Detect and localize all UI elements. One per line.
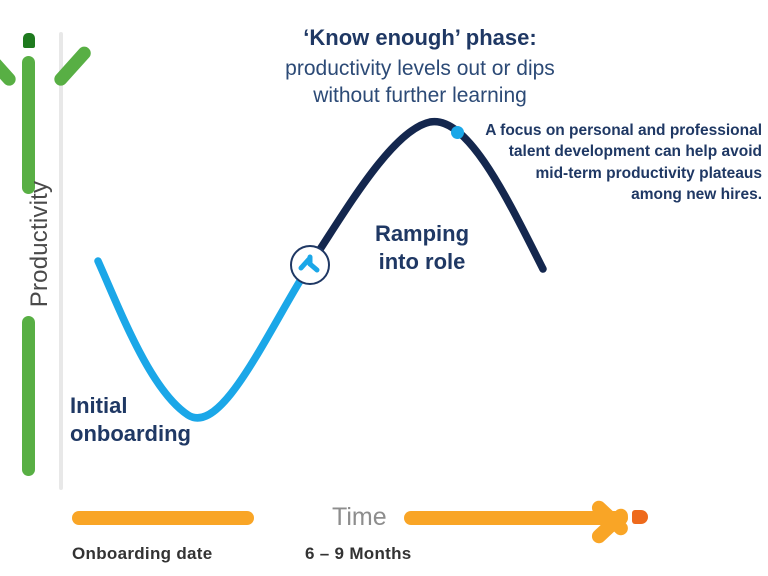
ramping-into-role-label-line-2: into role — [362, 248, 482, 276]
headline-sub: productivity levels out or dips without … — [210, 55, 630, 110]
cursor-arrow-icon — [297, 252, 323, 278]
plateau-callout-line-2: talent development can help avoid — [470, 141, 762, 162]
x-axis-title: Time — [332, 503, 387, 532]
dot-marker-icon — [451, 126, 464, 139]
plateau-callout-line-3: mid-term productivity plateaus — [470, 163, 762, 184]
plateau-callout-line-1: A focus on personal and professional — [470, 120, 762, 141]
plateau-callout: A focus on personal and professional tal… — [470, 120, 762, 206]
ramping-into-role-label-line-1: Ramping — [362, 220, 482, 248]
infographic-canvas: Productivity A focus on personal and pro… — [0, 0, 768, 576]
cursor-marker[interactable] — [290, 245, 330, 285]
headline-lead-bold: ‘Know enough’ phase — [303, 25, 529, 50]
headline: ‘Know enough’ phase: productivity levels… — [210, 24, 630, 109]
initial-onboarding-label-line-2: onboarding — [70, 420, 191, 448]
x-arrow-shaft-left — [72, 511, 254, 525]
headline-lead-colon: : — [529, 25, 536, 50]
plateau-callout-line-4: among new hires. — [470, 184, 762, 205]
x-tick-onboarding-date: Onboarding date — [72, 544, 213, 564]
headline-sub-line-1: productivity levels out or dips — [285, 57, 555, 80]
initial-onboarding-label-line-1: Initial — [70, 392, 191, 420]
x-arrow-head-tip — [632, 510, 648, 524]
ramping-into-role-label: Ramping into role — [362, 220, 482, 275]
initial-onboarding-label: Initial onboarding — [70, 392, 191, 447]
headline-lead: ‘Know enough’ phase: — [210, 24, 630, 53]
x-tick-six-to-nine-months: 6 – 9 Months — [305, 544, 412, 564]
headline-sub-line-2: without further learning — [313, 84, 527, 107]
